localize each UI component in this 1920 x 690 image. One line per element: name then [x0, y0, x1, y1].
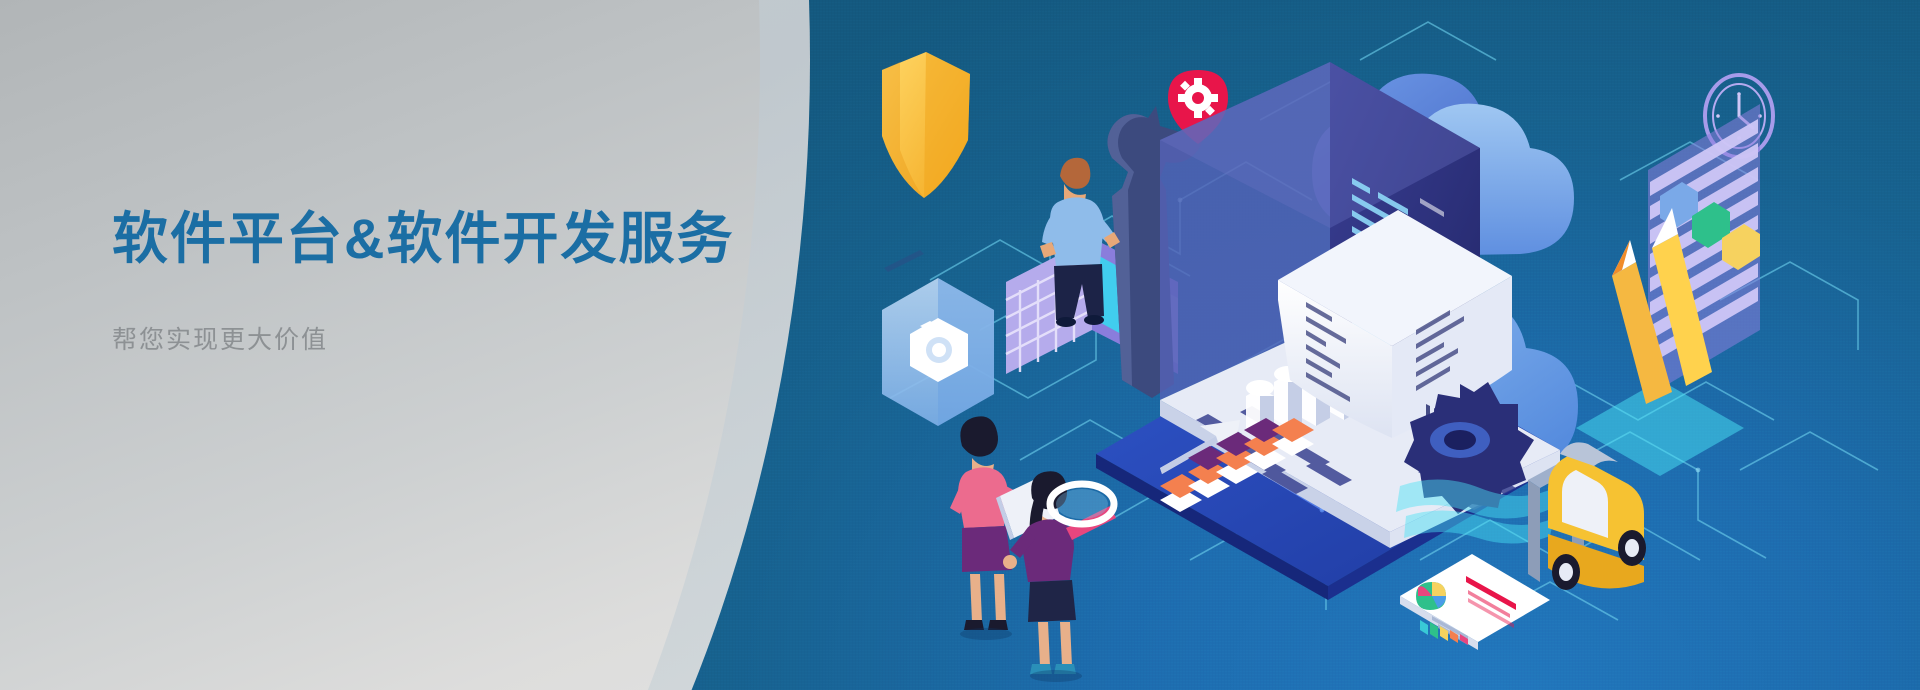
news-report-card[interactable] — [1400, 554, 1550, 650]
camera-tile-icon[interactable] — [882, 250, 994, 426]
page-title: 软件平台&软件开发服务 — [112, 206, 872, 272]
hero-copy: 软件平台&软件开发服务 帮您实现更大价值 — [112, 206, 872, 356]
illustration-isometric-scene — [860, 0, 1920, 690]
shield-icon — [882, 52, 970, 198]
hero-banner: 软件平台&软件开发服务 帮您实现更大价值 — [0, 0, 1920, 690]
page-subtitle: 帮您实现更大价值 — [112, 320, 872, 356]
magnifier-icon — [1050, 484, 1114, 524]
